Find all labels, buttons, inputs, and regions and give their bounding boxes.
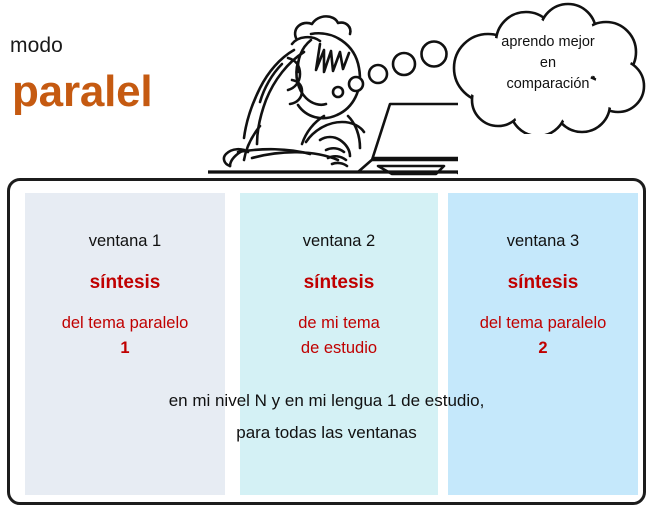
window-panel-2-desc-line-1: de mi tema (298, 314, 380, 332)
window-panel-2-description: de mi tema de estudio (240, 311, 438, 361)
window-panel-1-desc-line-1: del tema paralelo (62, 314, 189, 332)
window-panel-2-heading: síntesis (240, 272, 438, 294)
window-panel-3[interactable]: ventana 3 síntesis del tema paralelo 2 (448, 193, 638, 495)
window-panel-2-desc-line-2: de estudio (240, 336, 438, 361)
window-panel-3-heading: síntesis (448, 272, 638, 294)
window-panel-3-desc-line-2: 2 (448, 336, 638, 361)
window-panel-2[interactable]: ventana 2 síntesis de mi tema de estudio (240, 193, 438, 495)
window-panel-1-description: del tema paralelo 1 (25, 311, 225, 361)
thought-bubble-line-1: aprendo mejor (468, 32, 628, 53)
header-area: modo paralel (0, 0, 657, 178)
window-panel-1-heading: síntesis (25, 272, 225, 294)
window-panel-1[interactable]: ventana 1 síntesis del tema paralelo 1 (25, 193, 225, 495)
window-panel-2-label: ventana 2 (240, 232, 438, 251)
thought-bubble-text: aprendo mejor en comparación (468, 32, 628, 95)
windows-container: ventana 1 síntesis del tema paralelo 1 v… (7, 178, 646, 505)
window-panel-3-label: ventana 3 (448, 232, 638, 251)
thought-bubble-line-2: en (468, 53, 628, 74)
window-panel-1-label: ventana 1 (25, 232, 225, 251)
window-panel-1-desc-line-2: 1 (25, 336, 225, 361)
window-panel-3-desc-line-1: del tema paralelo (480, 314, 607, 332)
mode-label: modo (10, 34, 63, 58)
thought-bubble-line-3: comparación (468, 74, 628, 95)
page-title: paralel (12, 66, 152, 118)
window-panel-3-description: del tema paralelo 2 (448, 311, 638, 361)
